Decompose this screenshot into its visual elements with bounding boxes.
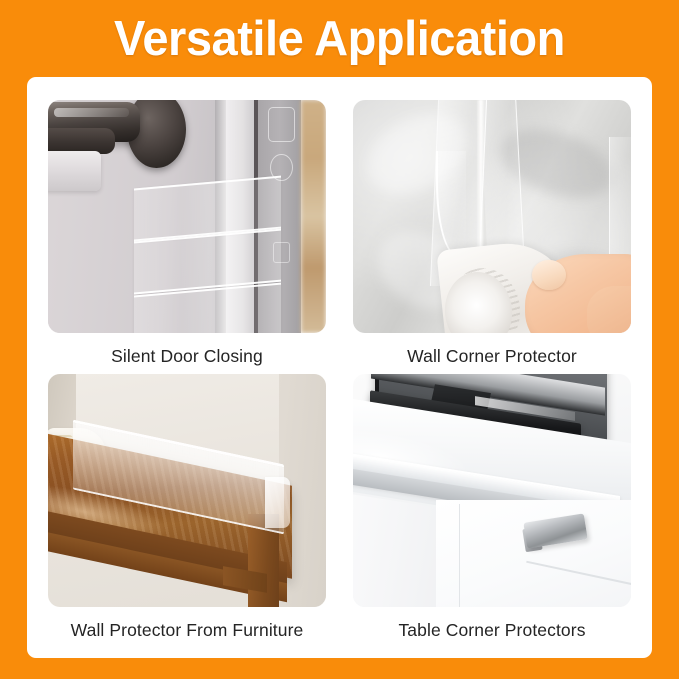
- infographic-page: Versatile Application: [0, 0, 679, 679]
- cabinet-side-panel: [353, 491, 442, 607]
- photo-wall-corner-protector: [353, 100, 631, 333]
- panel-caption: Table Corner Protectors: [398, 620, 585, 641]
- panel-switch-rect-icon: [268, 107, 295, 142]
- panel-caption: Wall Corner Protector: [407, 346, 577, 367]
- cabinet-drawer-front: [436, 500, 631, 607]
- fingernail: [532, 260, 565, 290]
- panel-caption: Silent Door Closing: [111, 346, 263, 367]
- panel-caption: Wall Protector From Furniture: [71, 620, 304, 641]
- panels-grid: Silent Door Closing: [27, 77, 652, 658]
- panels-card: Silent Door Closing: [27, 77, 652, 658]
- background-wood-blur: [301, 100, 326, 333]
- wall-protector-corner-cap: [265, 477, 290, 528]
- photo-table-corner-protectors: [353, 374, 631, 607]
- panel-wall-corner-protector[interactable]: Wall Corner Protector: [353, 100, 631, 368]
- door-handle-lever-underside: [48, 128, 115, 154]
- photo-wall-protector-from-furniture: [48, 374, 326, 607]
- cabinet-corner-seam: [459, 504, 461, 607]
- panel-silent-door-closing[interactable]: Silent Door Closing: [48, 100, 326, 368]
- door-strike-plate: [48, 151, 101, 191]
- page-title: Versatile Application: [14, 8, 666, 70]
- panel-wall-protector-from-furniture[interactable]: Wall Protector From Furniture: [48, 374, 326, 642]
- door-handle-highlight: [54, 108, 129, 117]
- photo-silent-door-closing: [48, 100, 326, 333]
- panel-table-corner-protectors[interactable]: Table Corner Protectors: [353, 374, 631, 642]
